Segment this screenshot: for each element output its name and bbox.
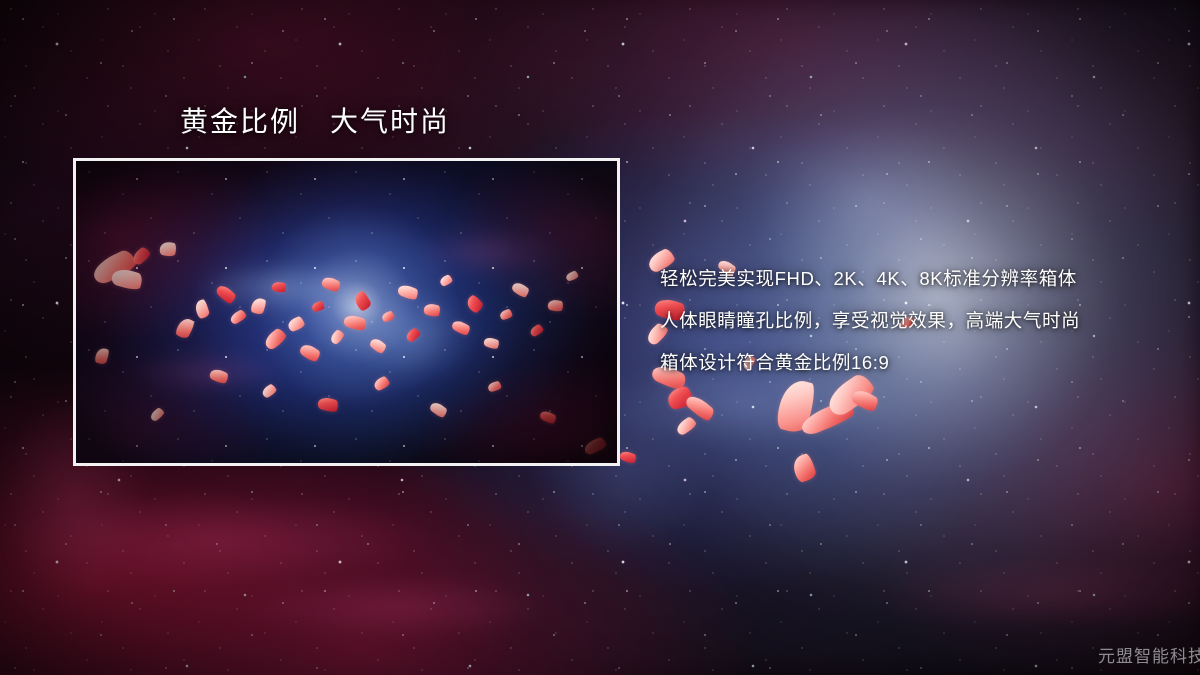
picture-vignette xyxy=(76,161,617,463)
flower-petal xyxy=(790,453,817,484)
flower-petal xyxy=(798,399,856,438)
flower-petal xyxy=(666,386,694,411)
flower-petal xyxy=(774,377,818,435)
flower-petal xyxy=(684,392,717,423)
body-line-2: 人体眼睛瞳孔比例，享受视觉效果，高端大气时尚 xyxy=(660,300,1160,342)
slide-title: 黄金比例 大气时尚 xyxy=(180,100,450,140)
flower-petal xyxy=(619,449,638,464)
body-line-1: 轻松完美实现FHD、2K、4K、8K标准分辨率箱体 xyxy=(660,258,1160,300)
galaxy-picture xyxy=(76,161,617,463)
flower-petal xyxy=(850,387,881,414)
presentation-slide: 黄金比例 大气时尚 轻松完美实现FHD、2K、4K、8K标准分辨率箱体 人体眼睛… xyxy=(0,0,1200,675)
galaxy-picture-frame xyxy=(73,158,620,466)
body-line-3: 箱体设计符合黄金比例16:9 xyxy=(660,342,1160,384)
flower-petal xyxy=(674,415,697,436)
body-text-block: 轻松完美实现FHD、2K、4K、8K标准分辨率箱体 人体眼睛瞳孔比例，享受视觉效… xyxy=(660,258,1160,384)
watermark: 元盟智能科技 xyxy=(1098,642,1200,667)
